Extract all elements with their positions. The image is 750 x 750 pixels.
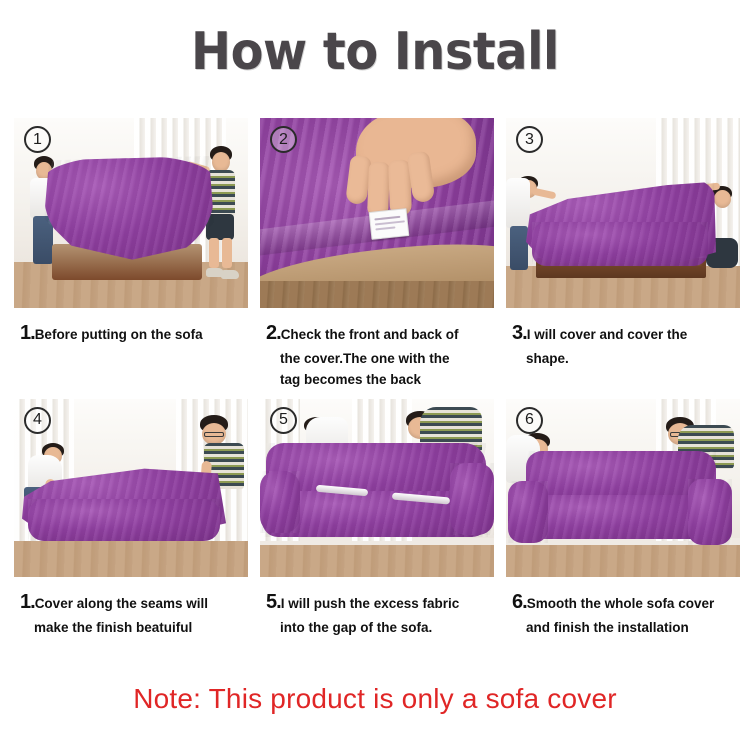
room-floor (506, 545, 740, 577)
room-floor (260, 281, 494, 308)
tag-text-line (375, 220, 405, 225)
step-caption-6: 6.Smooth the whole sofa cover and finish… (506, 577, 740, 639)
caption-line: Cover along the seams will (35, 596, 208, 611)
leg (222, 238, 232, 268)
step-badge: 6 (516, 407, 543, 434)
step-badge: 4 (24, 407, 51, 434)
step-card-3: 3 3.I will cover and cover the shape. (506, 118, 740, 391)
caption-line: Smooth the whole sofa cover (527, 596, 715, 611)
sofa-cover-seat (28, 499, 220, 541)
sofa-cover-arm-right (450, 463, 494, 535)
step-photo-2: 2 (260, 118, 494, 308)
step-badge: 5 (270, 407, 297, 434)
glasses-icon (204, 432, 224, 437)
step-card-6: 6 6.Smooth the whole sofa cover and fini… (506, 399, 740, 639)
steps-grid: 1 1.Before putting on the sofa (14, 118, 736, 639)
sofa-cover-arm-right (688, 479, 732, 545)
torso (506, 178, 530, 228)
step-number: 1. (20, 322, 35, 344)
caption-line: into the gap of the sofa. (280, 620, 432, 635)
caption-line: the cover.The one with the (280, 351, 450, 366)
room-floor (260, 545, 494, 577)
legs (510, 226, 528, 270)
step-number: 5. (266, 591, 281, 613)
step-card-1: 1 1.Before putting on the sofa (14, 118, 248, 391)
caption-line: make the finish beatuiful (34, 620, 192, 635)
step-photo-6: 6 (506, 399, 740, 577)
sofa-cover-arm-left (260, 471, 300, 533)
step-photo-5: 5 (260, 399, 494, 577)
step-photo-3: 3 (506, 118, 740, 308)
step-number: 1. (20, 591, 35, 613)
step-caption-3: 3.I will cover and cover the shape. (506, 308, 740, 370)
caption-line: Before putting on the sofa (35, 327, 203, 342)
caption-line: tag becomes the back (280, 372, 421, 387)
head (212, 152, 230, 172)
sofa-cover-arm-left (508, 481, 548, 543)
step-photo-1: 1 (14, 118, 248, 308)
tag-text-line (374, 216, 400, 221)
step-caption-5: 5.I will push the excess fabric into the… (260, 577, 494, 639)
caption-line: shape. (526, 351, 569, 366)
caption-line: and finish the installation (526, 620, 689, 635)
tag-text-line (375, 226, 395, 230)
page-title: How to Install (30, 0, 720, 78)
caption-line: I will cover and cover the (527, 327, 688, 342)
leg (209, 238, 219, 268)
care-tag (369, 208, 410, 240)
step-number: 2. (266, 322, 281, 344)
step-number: 6. (512, 591, 527, 613)
shoe (221, 270, 239, 279)
head (714, 190, 731, 208)
caption-line: Check the front and back of (281, 327, 459, 342)
step-caption-1: 1.Before putting on the sofa (14, 308, 248, 349)
step-card-2: 2 2.Check the front and back of the cove… (260, 118, 494, 391)
step-card-4: 4 1.Cover along the seams will make the … (14, 399, 248, 639)
infographic-page: How to Install (0, 0, 750, 750)
room-floor (14, 541, 248, 577)
step-number: 3. (512, 322, 527, 344)
step-photo-4: 4 (14, 399, 248, 577)
step-card-5: 5 5.I will push the excess fabric into t… (260, 399, 494, 639)
caption-line: I will push the excess fabric (281, 596, 460, 611)
step-caption-2: 2.Check the front and back of the cover.… (260, 308, 494, 391)
step-badge: 2 (270, 126, 297, 153)
step-badge: 3 (516, 126, 543, 153)
footer-note: Note: This product is only a sofa cover (0, 683, 750, 715)
step-caption-4: 1.Cover along the seams will make the fi… (14, 577, 248, 639)
sofa-cover-seat (532, 222, 708, 266)
step-badge: 1 (24, 126, 51, 153)
